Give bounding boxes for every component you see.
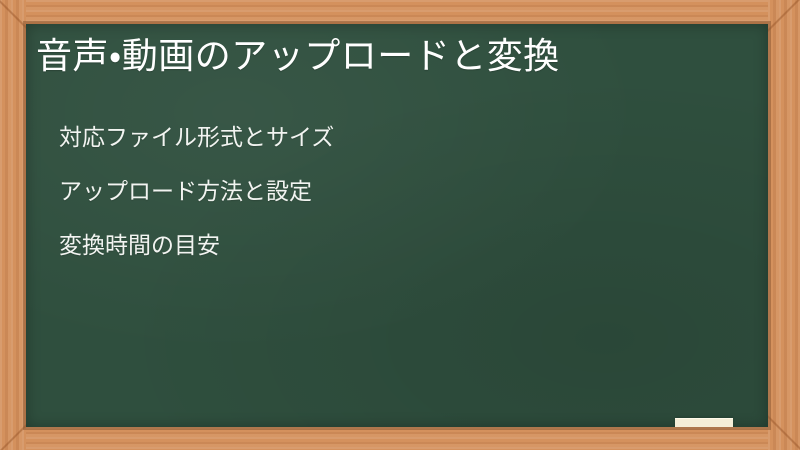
frame-rail-right — [768, 0, 800, 450]
chalk-eraser-icon — [675, 418, 733, 427]
chalkboard-surface: 音声・動画のアップロードと変換 対応ファイル形式とサイズ アップロード方法と設定… — [26, 24, 768, 427]
wood-grain-texture — [768, 0, 800, 450]
slide-bullet-list: 対応ファイル形式とサイズ アップロード方法と設定 変換時間の目安 — [59, 111, 334, 273]
wood-grain-texture — [0, 427, 800, 450]
chalkboard-frame: 音声・動画のアップロードと変換 対応ファイル形式とサイズ アップロード方法と設定… — [0, 0, 800, 450]
list-item: 変換時間の目安 — [59, 219, 334, 273]
list-item: 対応ファイル形式とサイズ — [59, 111, 334, 165]
list-item: アップロード方法と設定 — [59, 165, 334, 219]
slide-title: 音声・動画のアップロードと変換 — [36, 35, 560, 79]
frame-rail-bottom — [0, 427, 800, 450]
